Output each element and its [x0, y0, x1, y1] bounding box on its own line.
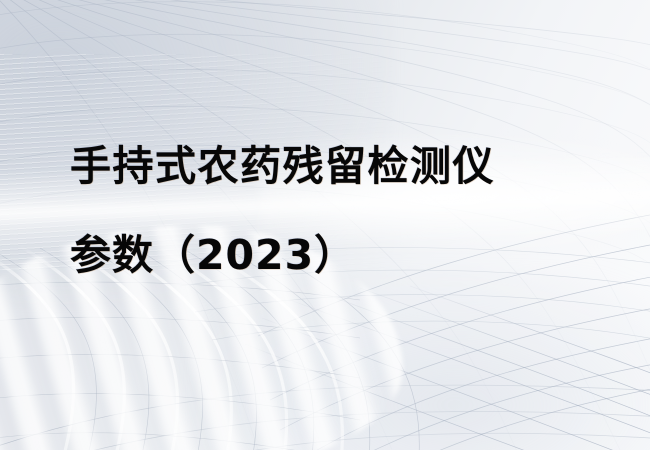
banner-title-block: 手持式农药残留检测仪 参数（2023） [70, 122, 495, 300]
banner-title-line-2: 参数（2023） [70, 211, 495, 300]
banner-image: 手持式农药残留检测仪 参数（2023） [0, 0, 650, 450]
banner-title-line-1: 手持式农药残留检测仪 [70, 122, 495, 211]
